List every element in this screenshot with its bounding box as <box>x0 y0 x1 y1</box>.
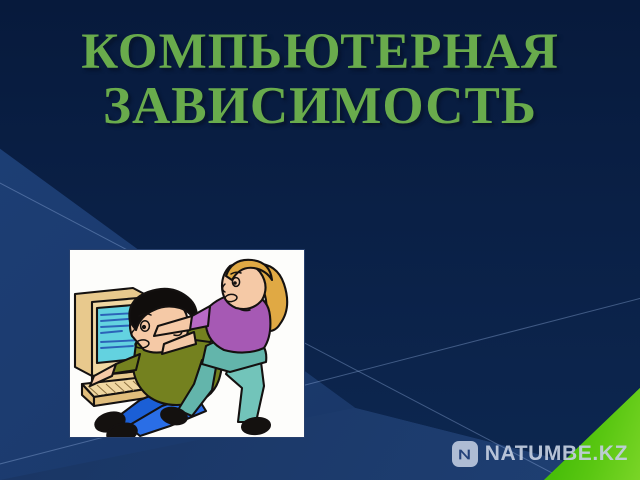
girl-pupil <box>233 281 237 285</box>
watermark-text: NATUMBE.KZ <box>485 442 628 466</box>
illustration-image: .ol { stroke:#141110; stroke-width:2.1; … <box>69 249 305 438</box>
boy-pupil <box>142 325 146 329</box>
illustration-svg: .ol { stroke:#141110; stroke-width:2.1; … <box>70 250 304 437</box>
watermark: NATUMBE.KZ <box>452 441 628 467</box>
natumbe-logo-icon <box>452 441 478 467</box>
presentation-slide: КОМПЬЮТЕРНАЯ ЗАВИСИМОСТЬ .ol { stroke:#1… <box>0 0 640 480</box>
